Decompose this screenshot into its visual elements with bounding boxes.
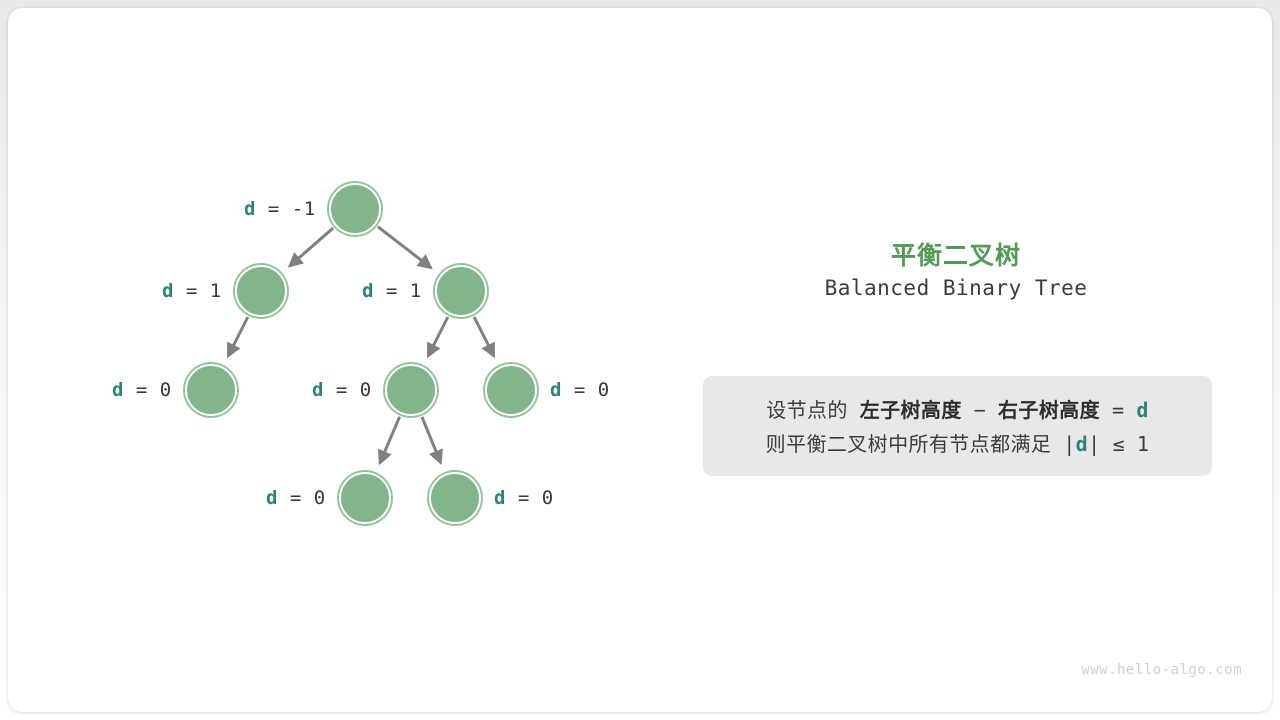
node-balance-label: d = 0 bbox=[312, 381, 372, 400]
definition-term-left: 左子树高度 bbox=[860, 400, 962, 422]
tree-edge bbox=[422, 417, 441, 463]
abs-bar-close: | bbox=[1088, 432, 1100, 456]
balance-variable: d bbox=[162, 280, 174, 302]
node-balance-label: d = 1 bbox=[362, 282, 422, 301]
definition-prefix: 设节点的 bbox=[766, 400, 848, 422]
tree-edge bbox=[474, 317, 494, 356]
abs-bar-open: | bbox=[1063, 432, 1075, 456]
tree-node[interactable] bbox=[429, 472, 481, 524]
definition-line-1: 设节点的 左子树高度 − 右子树高度 = d bbox=[703, 394, 1212, 428]
balance-variable: d bbox=[362, 280, 374, 302]
minus-sign: − bbox=[974, 398, 986, 422]
bound-value: 1 bbox=[1137, 432, 1149, 456]
balance-value: = 0 bbox=[324, 379, 372, 401]
equals-sign: = bbox=[1112, 398, 1124, 422]
info-panel: 平衡二叉树 Balanced Binary Tree 设节点的 左子树高度 − … bbox=[698, 8, 1228, 712]
tree-node[interactable] bbox=[339, 472, 391, 524]
panel-subtitle: Balanced Binary Tree bbox=[698, 276, 1214, 300]
illustration-card: d = -1d = 1d = 1d = 0d = 0d = 0d = 0d = … bbox=[8, 8, 1272, 712]
tree-node[interactable] bbox=[435, 265, 487, 317]
less-equal-sign: ≤ bbox=[1112, 432, 1124, 456]
balance-value: = -1 bbox=[256, 198, 316, 220]
definition-term-right: 右子树高度 bbox=[998, 400, 1100, 422]
tree-node[interactable] bbox=[329, 183, 381, 235]
balance-variable: d bbox=[244, 198, 256, 220]
node-balance-label: d = 0 bbox=[112, 381, 172, 400]
node-balance-label: d = 0 bbox=[266, 489, 326, 508]
balance-variable: d bbox=[112, 379, 124, 401]
condition-prefix: 则平衡二叉树中所有节点都满足 bbox=[766, 434, 1052, 456]
node-balance-label: d = 0 bbox=[550, 381, 610, 400]
tree-edge bbox=[380, 417, 400, 463]
balance-variable: d bbox=[266, 487, 278, 509]
tree-node[interactable] bbox=[185, 364, 237, 416]
balance-value: = 0 bbox=[506, 487, 554, 509]
definition-box: 设节点的 左子树高度 − 右子树高度 = d 则平衡二叉树中所有节点都满足 |d… bbox=[703, 376, 1212, 476]
balance-value: = 0 bbox=[562, 379, 610, 401]
tree-edge bbox=[290, 228, 334, 266]
balance-value: = 1 bbox=[174, 280, 222, 302]
panel-title: 平衡二叉树 bbox=[698, 236, 1214, 272]
tree-node[interactable] bbox=[485, 364, 537, 416]
balance-value: = 0 bbox=[278, 487, 326, 509]
balance-variable: d bbox=[550, 379, 562, 401]
variable-d: d bbox=[1076, 432, 1088, 456]
tree-edges bbox=[8, 8, 688, 712]
definition-line-2: 则平衡二叉树中所有节点都满足 |d| ≤ 1 bbox=[703, 428, 1212, 462]
site-watermark: www.hello-algo.com bbox=[1081, 662, 1242, 678]
node-balance-label: d = -1 bbox=[244, 200, 316, 219]
screenshot-root: d = -1d = 1d = 1d = 0d = 0d = 0d = 0d = … bbox=[0, 0, 1280, 720]
tree-edge bbox=[378, 227, 431, 268]
balance-variable: d bbox=[494, 487, 506, 509]
balance-value: = 1 bbox=[374, 280, 422, 302]
tree-edge bbox=[228, 317, 248, 356]
tree-node[interactable] bbox=[235, 265, 287, 317]
tree-node[interactable] bbox=[385, 364, 437, 416]
balance-variable: d bbox=[312, 379, 324, 401]
tree-edge bbox=[428, 317, 448, 356]
node-balance-label: d = 1 bbox=[162, 282, 222, 301]
binary-tree-diagram: d = -1d = 1d = 1d = 0d = 0d = 0d = 0d = … bbox=[8, 8, 688, 712]
balance-value: = 0 bbox=[124, 379, 172, 401]
variable-d: d bbox=[1136, 398, 1148, 422]
node-balance-label: d = 0 bbox=[494, 489, 554, 508]
